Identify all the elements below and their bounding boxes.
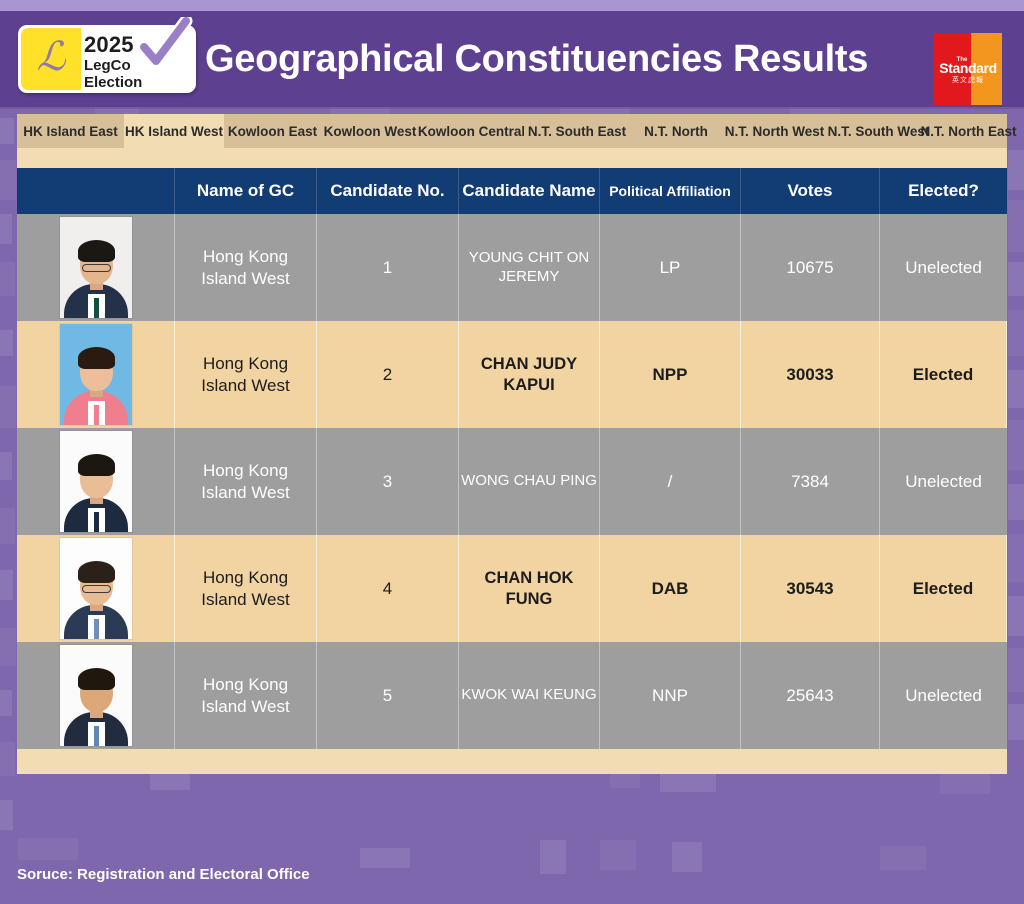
- cell-cname: KWOK WAI KEUNG: [459, 642, 600, 749]
- cell-photo: [17, 535, 175, 642]
- cell-party: LP: [600, 214, 741, 321]
- column-header-gc: Name of GC: [175, 168, 317, 214]
- bg-block: [0, 214, 12, 244]
- tab-kowloon-central[interactable]: Kowloon Central: [419, 114, 524, 148]
- constituency-tabs[interactable]: HK Island EastHK Island WestKowloon East…: [17, 114, 1007, 148]
- page-title: Geographical Constituencies Results: [205, 38, 868, 81]
- table-row: Hong KongIsland West5KWOK WAI KEUNGNNP25…: [17, 642, 1007, 749]
- logo-chinese-name: 英文虎報: [952, 77, 984, 84]
- bg-block: [600, 840, 636, 870]
- top-accent-strip: [0, 0, 1024, 11]
- tab-kowloon-east[interactable]: Kowloon East: [224, 114, 321, 148]
- bg-block: [1008, 420, 1024, 470]
- table-row: Hong KongIsland West1YOUNG CHIT ONJEREMY…: [17, 214, 1007, 321]
- cell-gc: Hong KongIsland West: [175, 321, 317, 428]
- the-standard-logo: The Standard 英文虎報: [934, 33, 1002, 105]
- tab-hk-island-east[interactable]: HK Island East: [17, 114, 124, 148]
- bg-block: [1008, 648, 1024, 692]
- bg-block: [880, 846, 926, 870]
- bg-block: [1008, 262, 1024, 296]
- bg-block: [1008, 200, 1024, 252]
- cell-photo: [17, 428, 175, 535]
- tab-label: Kowloon East: [228, 124, 317, 139]
- candidate-photo: [60, 645, 132, 746]
- tab-kowloon-west[interactable]: Kowloon West: [321, 114, 419, 148]
- cell-party: DAB: [600, 535, 741, 642]
- column-header-no: Candidate No.: [317, 168, 459, 214]
- bg-block: [1008, 370, 1024, 408]
- bg-block: [0, 452, 12, 480]
- cell-no: 5: [317, 642, 459, 749]
- bauhinia-icon: ℒ: [21, 28, 81, 90]
- legco-election-logo: ℒ 2025 LegCo Election: [18, 25, 196, 93]
- cell-elect: Unelected: [880, 214, 1007, 321]
- cell-elect: Unelected: [880, 642, 1007, 749]
- table-row: Hong KongIsland West3WONG CHAU PING/7384…: [17, 428, 1007, 535]
- tab-n-t-north[interactable]: N.T. North: [630, 114, 722, 148]
- results-table: Name of GCCandidate No.Candidate NamePol…: [17, 168, 1007, 749]
- column-header-votes: Votes: [741, 168, 880, 214]
- bg-block: [1008, 596, 1024, 636]
- bg-block: [672, 842, 702, 872]
- cell-gc: Hong KongIsland West: [175, 535, 317, 642]
- tab-label: HK Island East: [23, 124, 118, 139]
- column-header-photo: [17, 168, 175, 214]
- candidate-photo: [60, 538, 132, 639]
- bg-block: [0, 742, 15, 776]
- cell-votes: 25643: [741, 642, 880, 749]
- checkmark-icon: [136, 17, 194, 73]
- column-header-cname: Candidate Name: [459, 168, 600, 214]
- bg-block: [610, 774, 640, 788]
- cell-no: 1: [317, 214, 459, 321]
- tab-hk-island-west[interactable]: HK Island West: [124, 114, 224, 148]
- cell-cname: CHAN HOK FUNG: [459, 535, 600, 642]
- bg-block: [150, 774, 190, 790]
- table-row: Hong KongIsland West4CHAN HOK FUNGDAB305…: [17, 535, 1007, 642]
- results-panel: Name of GCCandidate No.Candidate NamePol…: [17, 148, 1007, 774]
- column-header-party: Political Affiliation: [600, 168, 741, 214]
- bg-block: [0, 262, 15, 296]
- cell-elect: Elected: [880, 535, 1007, 642]
- cell-no: 3: [317, 428, 459, 535]
- source-note: Soruce: Registration and Electoral Offic…: [17, 866, 310, 883]
- cell-photo: [17, 214, 175, 321]
- bg-block: [940, 774, 990, 794]
- logo-the: The: [957, 57, 968, 63]
- tab-label: Kowloon West: [324, 124, 417, 139]
- cell-gc: Hong KongIsland West: [175, 428, 317, 535]
- table-header-row: Name of GCCandidate No.Candidate NamePol…: [17, 168, 1007, 214]
- cell-party: NPP: [600, 321, 741, 428]
- bg-block: [0, 118, 14, 144]
- cell-no: 4: [317, 535, 459, 642]
- bg-block: [540, 840, 566, 874]
- cell-cname: WONG CHAU PING: [459, 428, 600, 535]
- table-row: Hong KongIsland West2CHAN JUDY KAPUINPP3…: [17, 321, 1007, 428]
- cell-cname: YOUNG CHIT ONJEREMY: [459, 214, 600, 321]
- tab-label: HK Island West: [125, 124, 223, 139]
- cell-votes: 7384: [741, 428, 880, 535]
- cell-party: NNP: [600, 642, 741, 749]
- candidate-photo: [60, 217, 132, 318]
- tab-n-t-north-west[interactable]: N.T. North West: [722, 114, 827, 148]
- logo-wordmark: The Standard 英文虎報: [934, 33, 1002, 105]
- cell-elect: Unelected: [880, 428, 1007, 535]
- bg-block: [0, 570, 13, 600]
- cell-gc: Hong KongIsland West: [175, 642, 317, 749]
- cell-votes: 30033: [741, 321, 880, 428]
- column-header-elect: Elected?: [880, 168, 1007, 214]
- cell-no: 2: [317, 321, 459, 428]
- bg-block: [0, 690, 12, 716]
- tab-n-t-north-east[interactable]: N.T. North East: [930, 114, 1007, 148]
- tab-label: Kowloon Central: [418, 124, 525, 139]
- tab-label: N.T. North East: [921, 124, 1017, 139]
- candidate-photo: [60, 324, 132, 425]
- bg-block: [18, 838, 78, 860]
- cell-photo: [17, 642, 175, 749]
- cell-gc: Hong KongIsland West: [175, 214, 317, 321]
- bg-block: [1008, 484, 1024, 520]
- tab-label: N.T. South West: [828, 124, 930, 139]
- bg-block: [1008, 150, 1024, 190]
- bg-block: [360, 848, 410, 868]
- cell-elect: Elected: [880, 321, 1007, 428]
- bg-block: [0, 800, 13, 830]
- bg-block: [0, 508, 15, 544]
- tab-label: N.T. North West: [725, 124, 825, 139]
- candidate-photo: [60, 431, 132, 532]
- tab-n-t-south-east[interactable]: N.T. South East: [524, 114, 630, 148]
- logo-name: Standard: [939, 61, 996, 75]
- bg-block: [1008, 310, 1024, 356]
- page-header: ℒ 2025 LegCo Election Geographical Const…: [0, 11, 1024, 107]
- bg-block: [0, 386, 16, 428]
- tab-label: N.T. North: [644, 124, 708, 139]
- cell-cname: CHAN JUDY KAPUI: [459, 321, 600, 428]
- bg-block: [0, 628, 16, 666]
- cell-votes: 30543: [741, 535, 880, 642]
- tab-n-t-south-west[interactable]: N.T. South West: [827, 114, 930, 148]
- bg-block: [660, 774, 716, 792]
- table-body: Hong KongIsland West1YOUNG CHIT ONJEREMY…: [17, 214, 1007, 749]
- bg-block: [1008, 534, 1024, 582]
- cell-votes: 10675: [741, 214, 880, 321]
- cell-photo: [17, 321, 175, 428]
- cell-party: /: [600, 428, 741, 535]
- bg-block: [1008, 704, 1024, 740]
- tab-label: N.T. South East: [528, 124, 626, 139]
- bg-block: [0, 160, 16, 200]
- bg-block: [0, 330, 13, 356]
